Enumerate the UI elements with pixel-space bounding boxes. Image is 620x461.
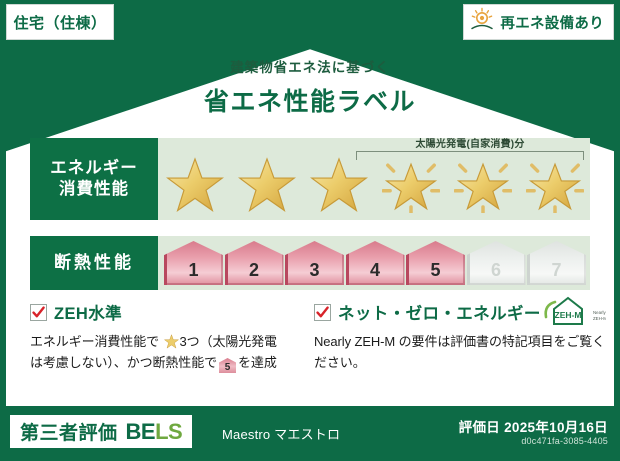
heading-block: 建築物省エネ法に基づく 省エネ性能ラベル — [0, 56, 620, 118]
grade-value: 5 — [430, 260, 440, 285]
insulation-performance-content: 1 2 3 4 5 — [158, 236, 590, 290]
grade-value: 7 — [551, 260, 561, 285]
criterion-zeh-standard: ZEH水準 エネルギー消費性能で 3つ（太陽光発電は考慮しない）、かつ断熱性能で… — [0, 300, 300, 373]
energy-performance-label: 住宅（住棟） 再エネ設備あり 建築物省エネ法に基づく 省エネ性能ラベル — [0, 0, 620, 461]
checkmark-icon — [30, 304, 47, 321]
insulation-grade-6: 6 — [467, 241, 526, 285]
insulation-grade-2: 2 — [225, 241, 284, 285]
bels-logo: BELS — [126, 419, 183, 445]
house-type-tag: 住宅（住棟） — [6, 4, 114, 40]
energy-performance-row: エネルギー 消費性能 太陽光発電(自家消費)分 — [30, 138, 590, 220]
zeh-body-stars: 3つ（太陽光発電 — [180, 334, 277, 349]
insulation-performance-row: 断熱性能 1 2 3 4 — [30, 236, 590, 290]
insulation-grade-4: 4 — [346, 241, 405, 285]
criterion-zeh-body: エネルギー消費性能で 3つ（太陽光発電は考慮しない）、かつ断熱性能で5を達成 — [30, 331, 288, 373]
star-2 — [236, 155, 298, 215]
zeh-body-part3: を達成 — [238, 355, 277, 370]
criterion-nze-title: ネット・ゼロ・エネルギー — [338, 300, 541, 324]
solar-sun-icon — [469, 7, 495, 38]
grade-value: 6 — [491, 260, 501, 285]
brand-name: Maestro マエストロ — [222, 424, 340, 443]
star-6-solar — [524, 155, 586, 215]
grade-value: 4 — [370, 260, 380, 285]
star-1 — [164, 155, 226, 215]
insulation-grade-1: 1 — [164, 241, 223, 285]
bels-logo-dark: BE — [126, 419, 156, 444]
insulation-label-text: 断熱性能 — [54, 252, 134, 273]
bels-logo-light: LS — [155, 419, 182, 444]
star-5-solar — [452, 155, 514, 215]
energy-performance-content: 太陽光発電(自家消費)分 — [158, 138, 590, 220]
renewable-energy-badge: 再エネ設備あり — [463, 4, 614, 40]
page-title: 省エネ性能ラベル — [0, 82, 620, 118]
insulation-grade-group: 1 2 3 4 5 — [164, 240, 586, 286]
criterion-zeh-title: ZEH水準 — [54, 300, 122, 324]
energy-label-line1: エネルギー — [50, 158, 138, 179]
criterion-nze-body: Nearly ZEH-M の要件は評価書の特記項目をご覧ください。 — [314, 331, 608, 373]
star-rating-group — [164, 154, 586, 216]
renewable-badge-label: 再エネ設備あり — [500, 12, 604, 33]
criterion-zeh-header: ZEH水準 — [30, 300, 288, 324]
house-badge-icon: 5 — [219, 358, 236, 373]
energy-performance-label: エネルギー 消費性能 — [30, 138, 158, 220]
checkmark-icon — [314, 304, 331, 321]
solar-portion-caption: 太陽光発電(自家消費)分 — [356, 135, 584, 150]
criteria-section: ZEH水準 エネルギー消費性能で 3つ（太陽光発電は考慮しない）、かつ断熱性能で… — [0, 300, 620, 373]
star-icon — [164, 334, 179, 349]
zeh-m-logo-icon: ZEH-M Nearly ZEH-M — [540, 295, 606, 329]
insulation-grade-7: 7 — [527, 241, 586, 285]
grade-value: 1 — [188, 260, 198, 285]
insulation-performance-label: 断熱性能 — [30, 236, 158, 290]
svg-text:ZEH-M: ZEH-M — [593, 316, 606, 321]
star-3 — [308, 155, 370, 215]
evaluation-id: d0c471fa-3085-4405 — [521, 436, 608, 446]
bels-certification-plate: 第三者評価 BELS — [10, 415, 192, 448]
footer-bar: 第三者評価 BELS Maestro マエストロ 評価日 2025年10月16日… — [0, 406, 620, 461]
evaluation-date: 評価日 2025年10月16日 — [459, 416, 608, 436]
label-subtitle: 建築物省エネ法に基づく — [0, 56, 620, 76]
grade-value: 3 — [309, 260, 319, 285]
house-type-tag-label: 住宅（住棟） — [13, 12, 106, 33]
insulation-grade-3: 3 — [285, 241, 344, 285]
zeh-body-part2: は考慮しない）、かつ断熱性能で — [30, 355, 217, 370]
insulation-grade-5: 5 — [406, 241, 465, 285]
grade-value: 2 — [249, 260, 259, 285]
svg-text:ZEH-M: ZEH-M — [555, 310, 582, 320]
criterion-net-zero-energy: ネット・ゼロ・エネルギー ZEH-M Nearly ZEH-M Nearly Z… — [300, 300, 620, 373]
svg-text:Nearly: Nearly — [593, 310, 606, 315]
third-party-evaluation-label: 第三者評価 — [20, 418, 118, 445]
energy-label-line2: 消費性能 — [59, 179, 129, 200]
star-4-solar — [380, 155, 442, 215]
zeh-body-part1: エネルギー消費性能で — [30, 334, 159, 349]
